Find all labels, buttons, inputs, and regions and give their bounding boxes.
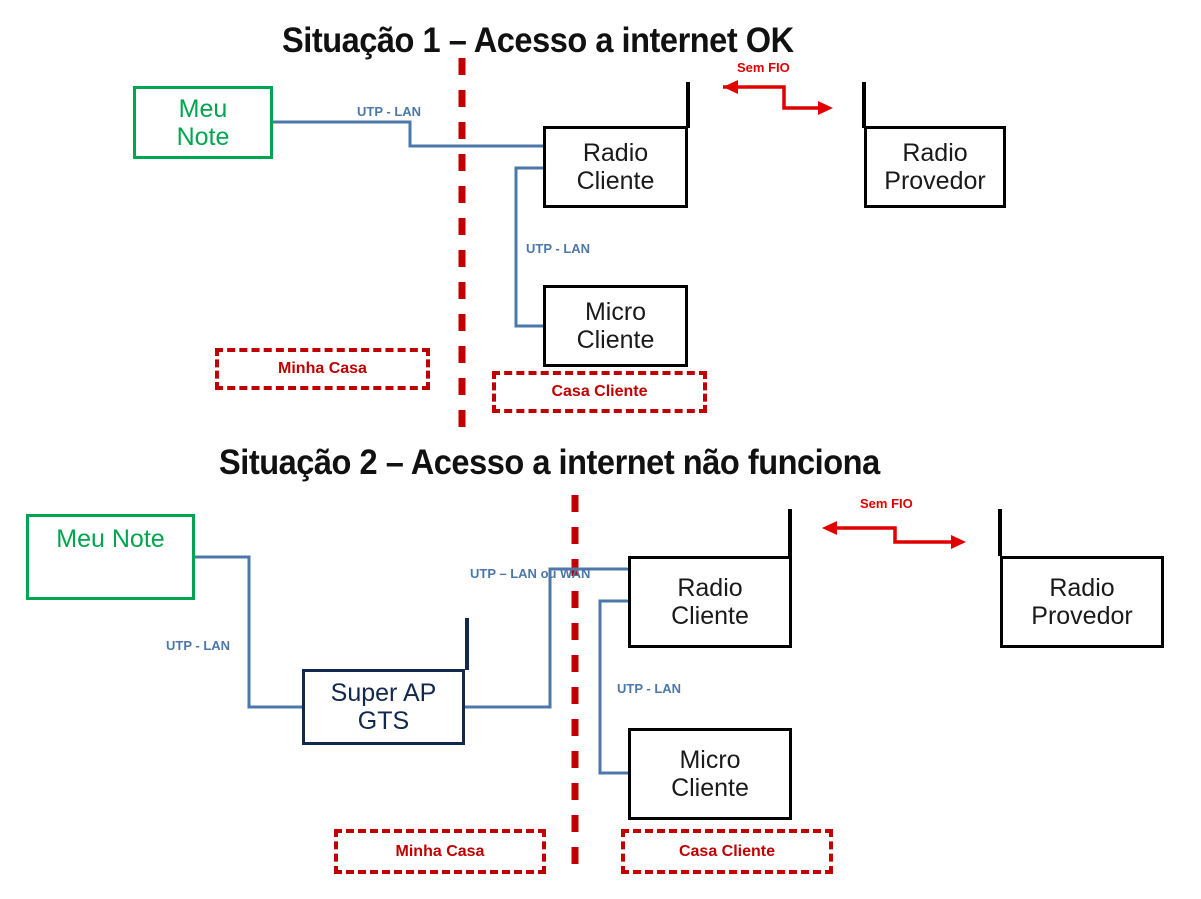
cable-note-to-ap-2 bbox=[195, 557, 302, 707]
node-label-line-1: Radio bbox=[902, 139, 967, 167]
node-label-line-1: Super AP bbox=[331, 679, 437, 707]
node-label-line-2: Cliente bbox=[671, 774, 749, 802]
node-radio-provedor-2[interactable]: Radio Provedor bbox=[1000, 556, 1164, 648]
cable-label-utp-lan-left-2: UTP - LAN bbox=[166, 638, 230, 654]
cable-label-utp-lan-top-1: UTP - LAN bbox=[357, 104, 421, 120]
node-micro-cliente-1[interactable]: Micro Cliente bbox=[543, 285, 688, 367]
zone-casa-cliente-1: Casa Cliente bbox=[492, 371, 707, 413]
zone-casa-cliente-2: Casa Cliente bbox=[621, 829, 833, 874]
node-label-line-2: Note bbox=[177, 123, 230, 151]
wireless-label-sem-fio-2: Sem FIO bbox=[860, 496, 913, 511]
wireless-arrow-1 bbox=[723, 80, 833, 115]
cable-label-utp-lan-ou-wan-2: UTP – LAN ou WAN bbox=[470, 566, 590, 582]
cable-ap-to-radio-2 bbox=[465, 569, 628, 707]
cable-label-line-1: UTP – LAN bbox=[470, 566, 537, 581]
node-label-line-1: Radio bbox=[583, 139, 648, 167]
diagram-canvas: Situação 1 – Acesso a internet OK Meu No… bbox=[0, 0, 1201, 899]
node-label-line-1: Meu bbox=[179, 95, 228, 123]
node-radio-cliente-1[interactable]: Radio Cliente bbox=[543, 126, 688, 208]
node-label-line-1: Micro bbox=[585, 298, 646, 326]
node-super-ap-gts-2[interactable]: Super AP GTS bbox=[302, 669, 465, 745]
zone-label: Minha Casa bbox=[396, 843, 485, 861]
node-meu-note-2[interactable]: Meu Note bbox=[26, 514, 195, 600]
wireless-label-sem-fio-1: Sem FIO bbox=[737, 60, 790, 75]
cable-label-utp-lan-mid-2: UTP - LAN bbox=[617, 681, 681, 697]
node-label-line-1: Radio bbox=[677, 574, 742, 602]
node-label-line-1: Meu Note bbox=[56, 525, 164, 553]
zone-minha-casa-1: Minha Casa bbox=[215, 348, 430, 390]
node-label-line-1: Micro bbox=[679, 746, 740, 774]
node-label-line-2: Cliente bbox=[577, 326, 655, 354]
node-label-line-2: GTS bbox=[358, 707, 409, 735]
node-meu-note-1[interactable]: Meu Note bbox=[133, 86, 273, 159]
cable-label-utp-lan-mid-1: UTP - LAN bbox=[526, 241, 590, 257]
node-label-line-2: Provedor bbox=[1031, 602, 1132, 630]
node-label-line-2: Cliente bbox=[671, 602, 749, 630]
zone-label: Casa Cliente bbox=[679, 843, 775, 861]
node-label-line-2: Cliente bbox=[577, 167, 655, 195]
zone-label: Casa Cliente bbox=[551, 383, 647, 401]
node-label-line-2: Provedor bbox=[884, 167, 985, 195]
node-radio-provedor-1[interactable]: Radio Provedor bbox=[864, 126, 1006, 208]
node-radio-cliente-2[interactable]: Radio Cliente bbox=[628, 556, 792, 648]
node-micro-cliente-2[interactable]: Micro Cliente bbox=[628, 728, 792, 820]
situation-2-title: Situação 2 – Acesso a internet não funci… bbox=[219, 443, 880, 483]
wireless-arrow-2 bbox=[822, 521, 966, 549]
zone-label: Minha Casa bbox=[278, 360, 367, 378]
node-label-line-1: Radio bbox=[1049, 574, 1114, 602]
cable-note-to-radio-1 bbox=[273, 122, 543, 146]
zone-minha-casa-2: Minha Casa bbox=[334, 829, 546, 874]
situation-1-title: Situação 1 – Acesso a internet OK bbox=[282, 21, 794, 61]
cable-label-line-2: ou WAN bbox=[541, 566, 591, 581]
